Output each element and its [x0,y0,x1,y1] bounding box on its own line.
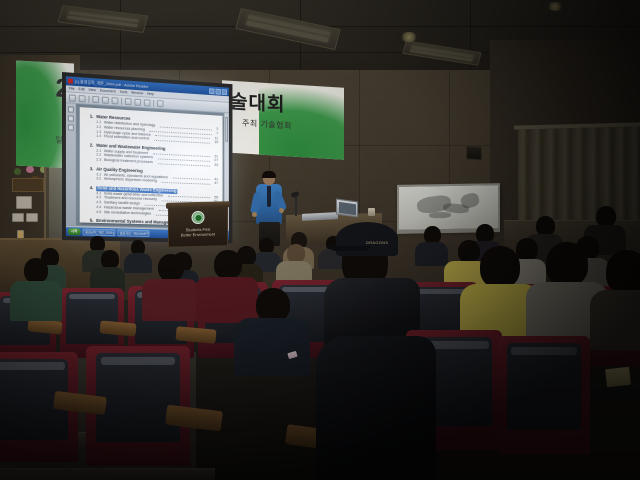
outline-item-label: Flood estimation and control [104,135,149,142]
menu-window[interactable]: Window [131,91,143,96]
seat-highlight [101,357,176,365]
ceiling-light-icon [235,8,340,50]
next-page-icon[interactable] [134,98,141,105]
presenter-hair [262,171,276,178]
presenter-left-hand [252,212,257,217]
outline-leader-dots [162,179,210,185]
outline-section-number: 2. [87,143,93,148]
outline-item-page: 33 [214,163,218,168]
navigation-pane[interactable] [66,103,77,225]
wall-curtain [518,126,640,227]
seat-highlight [511,347,577,355]
presenter-right-hand [279,208,284,213]
scrollbar-thumb[interactable] [225,117,228,142]
podium-text: Students First Better Environment [169,226,227,238]
outline-item-number: 1.4 [96,134,101,139]
outline-section-number: 1. [87,115,93,120]
menu-edit[interactable]: Edit [79,87,85,91]
menu-document[interactable]: Document [100,89,116,94]
institute-seal-icon [192,211,205,224]
banner-right: 술대회 주최 기술협회 [222,80,344,159]
toolbar-separator [88,95,89,102]
pages-icon[interactable] [68,115,74,121]
outline-section-title: Environmental Systems and Management [96,219,178,226]
handheld-device[interactable] [605,367,631,387]
paper-cup [368,208,375,216]
outline-item-page: 15 [214,141,218,146]
fit-page-icon[interactable] [144,99,151,106]
cap-brim [330,246,370,251]
start-button[interactable]: 시작 [68,228,80,235]
presenter-tie [267,186,271,207]
toolbar-separator [121,97,122,104]
outline-section: 3.Air Quality Engineering3.1Air pollutan… [87,167,218,186]
seat-highlight [69,294,115,299]
menu-tools[interactable]: Tools [119,90,127,94]
podium-top [166,201,230,209]
outline-item-label: Atmospheric dispersion modeling [104,177,157,184]
banner-organizer: 주최 기술협회 [242,117,292,131]
zoom-in-icon[interactable] [112,97,119,104]
outline-item-number: 2.3 [96,158,101,163]
window-controls[interactable] [209,88,227,95]
wall-speaker [466,145,482,160]
ceiling-light-icon [57,5,148,33]
outline-section: 2.Water and Wastewater Engineering2.1Wat… [87,143,218,168]
microphone-stand [295,196,297,216]
seat-back [96,353,179,442]
menu-view[interactable]: View [88,88,95,92]
toolbar-separator [153,99,154,106]
select-tool-icon[interactable] [92,95,99,102]
outline-item-label: Site remediation technologies [104,210,151,216]
adobe-reader-icon [68,78,73,83]
seat-back [507,343,581,430]
open-icon[interactable] [69,94,76,101]
podium: Students First Better Environment [168,204,228,248]
search-icon[interactable] [157,100,164,107]
podium-line2: Better Environment [169,232,227,239]
menu-file[interactable]: File [69,86,75,90]
light-switch-panel[interactable] [26,213,38,222]
presenter [252,172,286,246]
seat-highlight [414,289,467,294]
prev-page-icon[interactable] [125,98,132,105]
cap-logo-text: DRAGONS [366,240,388,245]
outline-item-number: 4.5 [96,210,101,215]
seat-back [66,292,117,344]
outline-section: 1.Water Resources1.1Water distribution a… [87,115,218,146]
laptop-screen [336,198,358,217]
ceiling-spotlight-icon [400,32,418,42]
outline-section-number: 4. [87,186,93,191]
wall-plaque [12,178,44,192]
attachments-icon[interactable] [68,124,74,130]
light-switch-panel[interactable] [12,213,24,222]
outline-section-number: 5. [87,219,93,224]
print-icon[interactable] [79,95,86,102]
ceiling-spotlight-icon [547,2,563,11]
outline-item-page: 47 [214,182,218,187]
auditorium-scene: 2 일시 술대회 주최 기술협회 [1] 환경공학_개론_2009.pdf - … [0,0,640,480]
outline-item-number: 3.2 [96,177,101,182]
zoom-out-icon[interactable] [102,96,109,103]
auditorium-seat[interactable] [498,336,590,454]
outline-section-number: 3. [87,167,93,172]
step [0,468,215,480]
taskbar-item[interactable]: 발표자료 - Microsoft P... [117,229,149,237]
bookmarks-icon[interactable] [68,106,74,112]
light-switch-panel[interactable] [16,196,32,209]
menu-help[interactable]: Help [147,92,154,96]
seat-highlight [0,362,65,370]
outline-item-label: Biological treatment processes [104,158,153,165]
taskbar-item[interactable]: 환경공학_개론_2009.pdf -... [82,228,115,236]
banner-title: 술대회 [230,87,285,117]
